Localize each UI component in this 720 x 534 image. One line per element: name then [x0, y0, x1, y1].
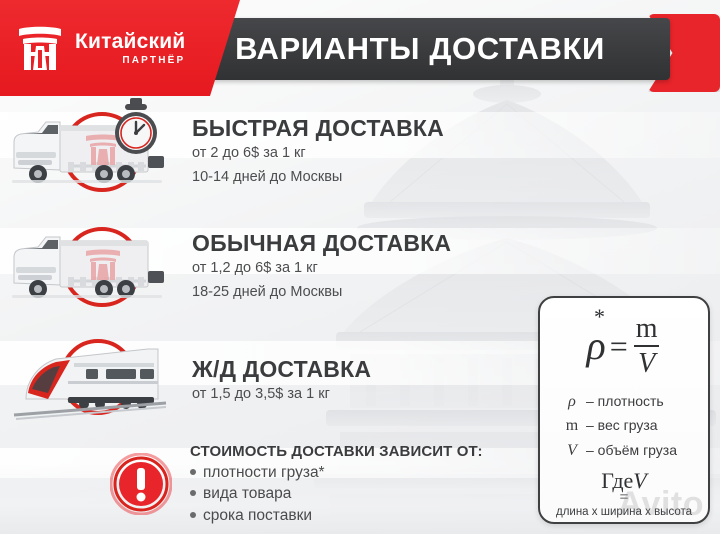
legend-label: – объём груза	[586, 440, 677, 461]
formula-equals: =	[610, 330, 628, 362]
option-title: ОБЫЧНАЯ ДОСТАВКА	[192, 231, 451, 255]
where-equals: =	[550, 493, 698, 503]
truck-icon	[8, 227, 172, 309]
option-title: БЫСТРАЯ ДОСТАВКА	[192, 116, 444, 140]
formula-legend: ρ – плотность m – вес груза V – объём гр…	[550, 390, 698, 463]
bullet-icon	[190, 490, 196, 496]
stopwatch-icon	[108, 98, 164, 156]
option-title: Ж/Д ДОСТАВКА	[192, 357, 371, 381]
option-regular-delivery[interactable]: ОБЫЧНАЯ ДОСТАВКА от 1,2 до 6$ за 1 кг 18…	[0, 219, 540, 315]
option-price: от 2 до 6$ за 1 кг	[192, 143, 444, 164]
list-item-label: вида товара	[203, 483, 291, 504]
legend-label: – плотность	[586, 391, 664, 412]
cost-note: СТОИМОСТЬ ДОСТАВКИ ЗАВИСИТ ОТ: плотности…	[110, 443, 483, 526]
formula-denominator: V	[634, 345, 659, 378]
list-item: вида товара	[190, 483, 483, 504]
brand-logo[interactable]: Китайский ПАРТНЁР	[14, 22, 185, 74]
volume-dimensions: длина х ширина х высота	[550, 506, 698, 518]
legend-symbol: m	[564, 414, 580, 438]
where-symbol: V	[633, 468, 646, 493]
cost-note-text: СТОИМОСТЬ ДОСТАВКИ ЗАВИСИТ ОТ: плотности…	[190, 443, 483, 526]
brand-name: Китайский	[75, 31, 185, 52]
option-text-fast: БЫСТРАЯ ДОСТАВКА от 2 до 6$ за 1 кг 10-1…	[180, 116, 444, 188]
formula-fraction: m V	[632, 315, 662, 378]
option-text-regular: ОБЫЧНАЯ ДОСТАВКА от 1,2 до 6$ за 1 кг 18…	[180, 231, 451, 303]
option-price: от 1,5 до 3,5$ за 1 кг	[192, 384, 371, 405]
legend-row-mass: m – вес груза	[550, 414, 698, 438]
bullet-icon	[190, 512, 196, 518]
option-icon-rail	[0, 333, 180, 429]
brand-text: Китайский ПАРТНЁР	[75, 31, 185, 66]
legend-label: – вес груза	[586, 415, 658, 436]
legend-row-rho: ρ – плотность	[550, 390, 698, 414]
formula-numerator: m	[632, 315, 662, 345]
legend-symbol: V	[564, 439, 580, 463]
formula-rho: ρ	[586, 326, 605, 366]
exclamation-circle-icon	[110, 453, 172, 515]
list-item-label: плотности груза*	[203, 462, 325, 483]
list-item: плотности груза*	[190, 462, 483, 483]
formula-asterisk: *	[594, 306, 605, 328]
option-price: от 1,2 до 6$ за 1 кг	[192, 258, 451, 279]
torii-gate-icon	[14, 22, 66, 74]
density-formula-card: * ρ = m V ρ – плотность m – вес груза V …	[538, 296, 710, 524]
train-icon	[8, 341, 172, 423]
list-item: срока поставки	[190, 505, 483, 526]
option-text-rail: Ж/Д ДОСТАВКА от 1,5 до 3,5$ за 1 кг	[180, 357, 371, 405]
cost-note-title: СТОИМОСТЬ ДОСТАВКИ ЗАВИСИТ ОТ:	[190, 443, 483, 460]
page-title: ВАРИАНТЫ ДОСТАВКИ	[180, 18, 660, 80]
legend-symbol: ρ	[564, 390, 580, 414]
option-rail-delivery[interactable]: Ж/Д ДОСТАВКА от 1,5 до 3,5$ за 1 кг	[0, 333, 540, 429]
option-term: 10-14 дней до Москвы	[192, 167, 444, 188]
delivery-options-poster: ВАРИАНТЫ ДОСТАВКИ Китайский ПАРТНЁР	[0, 0, 720, 534]
cost-factors-list: плотности груза* вида товара срока поста…	[190, 462, 483, 526]
option-fast-delivery[interactable]: БЫСТРАЯ ДОСТАВКА от 2 до 6$ за 1 кг 10-1…	[0, 104, 540, 200]
brand-subtitle: ПАРТНЁР	[75, 56, 185, 66]
list-item-label: срока поставки	[203, 505, 312, 526]
option-icon-regular	[0, 219, 180, 315]
bullet-icon	[190, 469, 196, 475]
option-term: 18-25 дней до Москвы	[192, 282, 451, 303]
legend-row-volume: V – объём груза	[550, 439, 698, 463]
option-icon-fast	[0, 104, 180, 200]
density-formula: * ρ = m V	[550, 304, 698, 388]
header: ВАРИАНТЫ ДОСТАВКИ Китайский ПАРТНЁР	[0, 0, 720, 96]
